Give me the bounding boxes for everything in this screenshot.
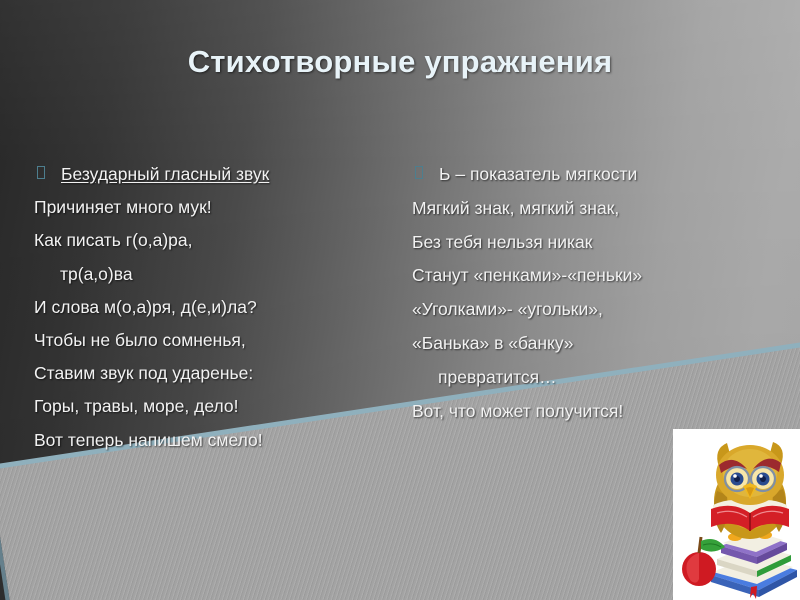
poem-line: Станут «пенками»-«пеньки»	[412, 259, 772, 293]
poem-line: Вот теперь напишем смело!	[34, 424, 386, 457]
slide-canvas: Стихотворные упражнения Безударный гласн…	[0, 0, 800, 600]
poem-heading-text: Безударный гласный звук	[61, 164, 269, 184]
poem-line: превратится…	[412, 361, 772, 395]
poem-line: «Уголками»- «угольки»,	[412, 293, 772, 327]
slide-title: Стихотворные упражнения	[0, 44, 800, 80]
poem-line: Вот, что может получится!	[412, 395, 772, 429]
poem-column-left: Безударный гласный звукПричиняет много м…	[34, 158, 386, 457]
poem-line: Чтобы не было сомненья,	[34, 324, 386, 357]
poem-line: И слова м(о,а)ря, д(е,и)ла?	[34, 291, 386, 324]
poem-heading-line: Ь – показатель мягкости	[412, 158, 772, 192]
bullet-box-icon	[37, 166, 45, 179]
poem-line: Без тебя нельзя никак	[412, 226, 772, 260]
poem-line: Ставим звук под ударенье:	[34, 357, 386, 390]
bullet-box-icon	[415, 166, 423, 179]
owl-reading-book-icon	[673, 429, 800, 600]
poem-line: тр(а,о)ва	[34, 258, 386, 291]
poem-line: Мягкий знак, мягкий знак,	[412, 192, 772, 226]
poem-line: «Банька» в «банку»	[412, 327, 772, 361]
poem-line: Как писать г(о,а)ра,	[34, 224, 386, 257]
poem-column-right: Ь – показатель мягкостиМягкий знак, мягк…	[412, 158, 772, 428]
poem-heading-line: Безударный гласный звук	[34, 158, 386, 191]
poem-heading-text: Ь – показатель мягкости	[439, 164, 637, 184]
poem-line: Причиняет много мук!	[34, 191, 386, 224]
poem-line: Горы, травы, море, дело!	[34, 390, 386, 423]
